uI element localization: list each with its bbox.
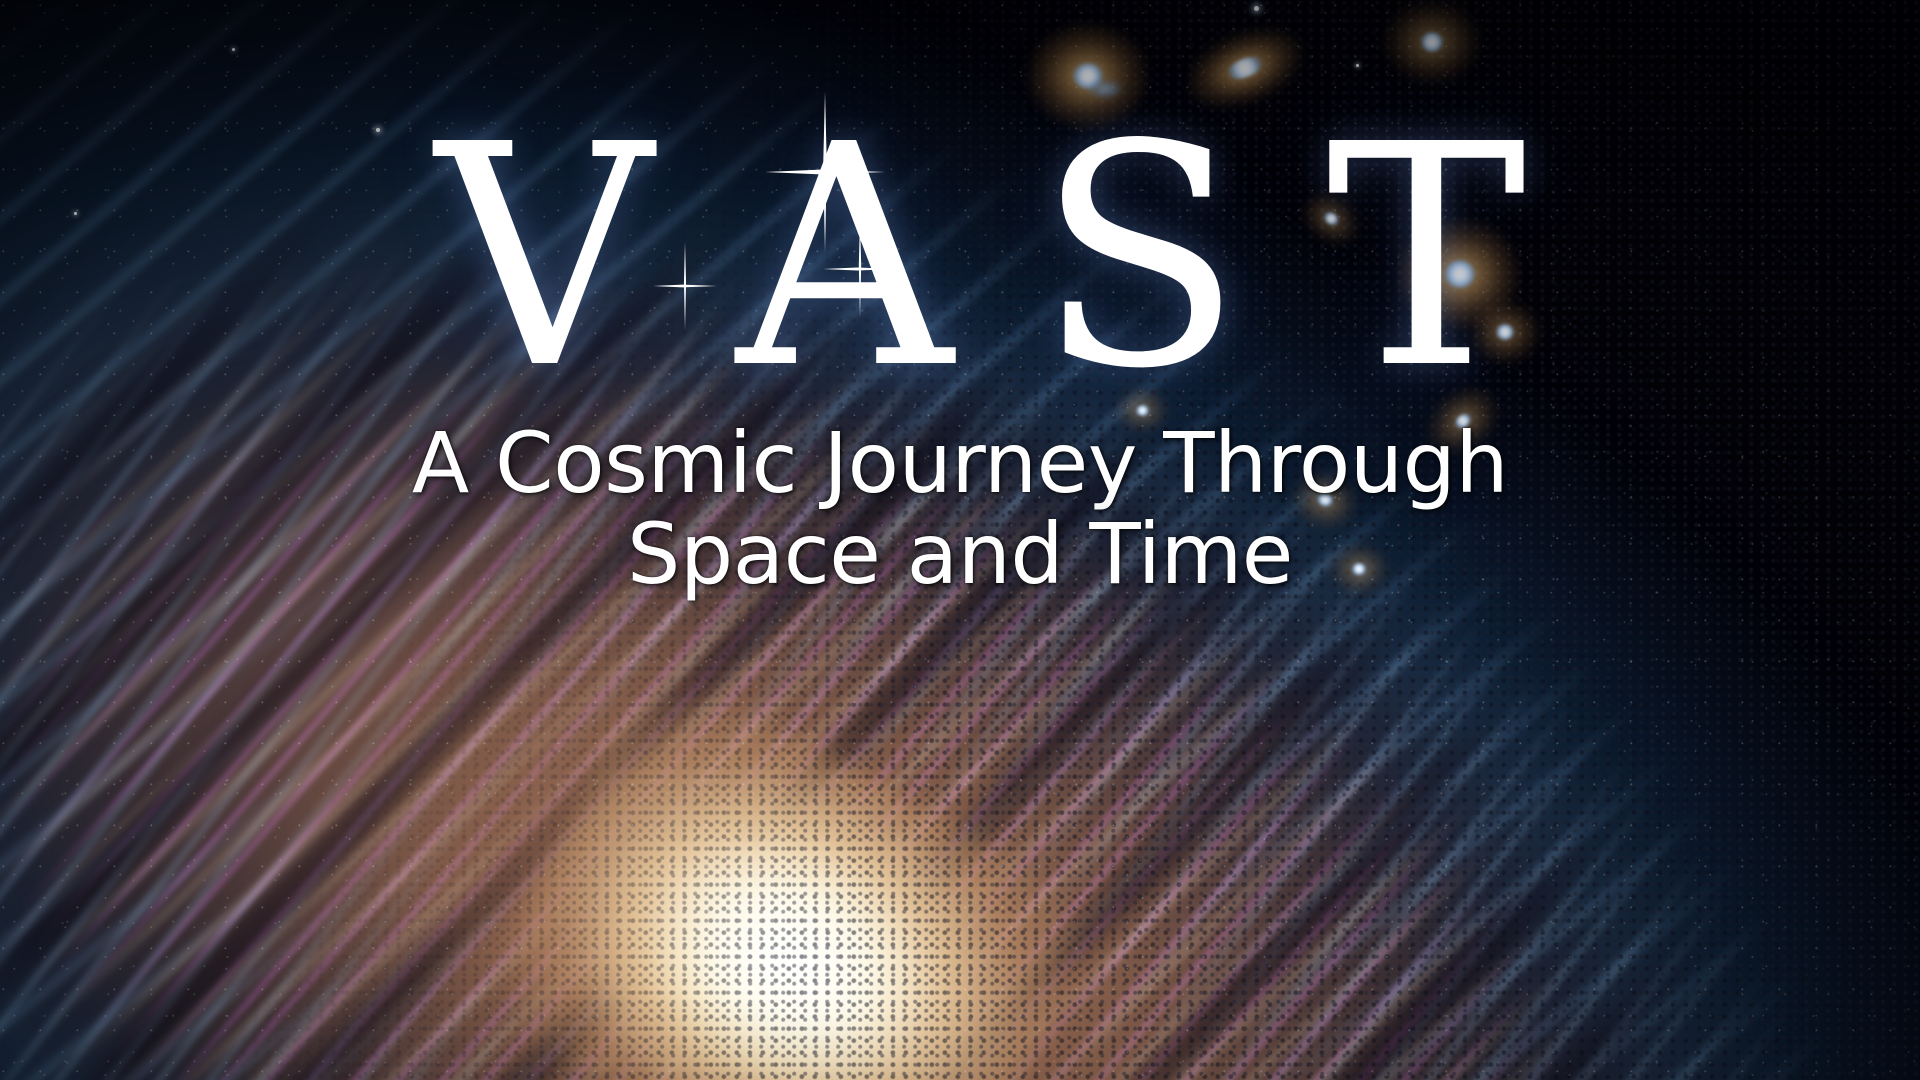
spiral-galaxy-image bbox=[0, 0, 1920, 1080]
poster-canvas: VAST A Cosmic Journey Through Space and bbox=[0, 0, 1920, 1080]
foreground-star bbox=[232, 48, 235, 51]
foreground-star bbox=[1498, 150, 1501, 153]
foreground-star bbox=[1254, 6, 1259, 11]
foreground-star bbox=[1356, 64, 1359, 67]
foreground-star bbox=[376, 128, 380, 132]
foreground-star bbox=[74, 212, 77, 215]
